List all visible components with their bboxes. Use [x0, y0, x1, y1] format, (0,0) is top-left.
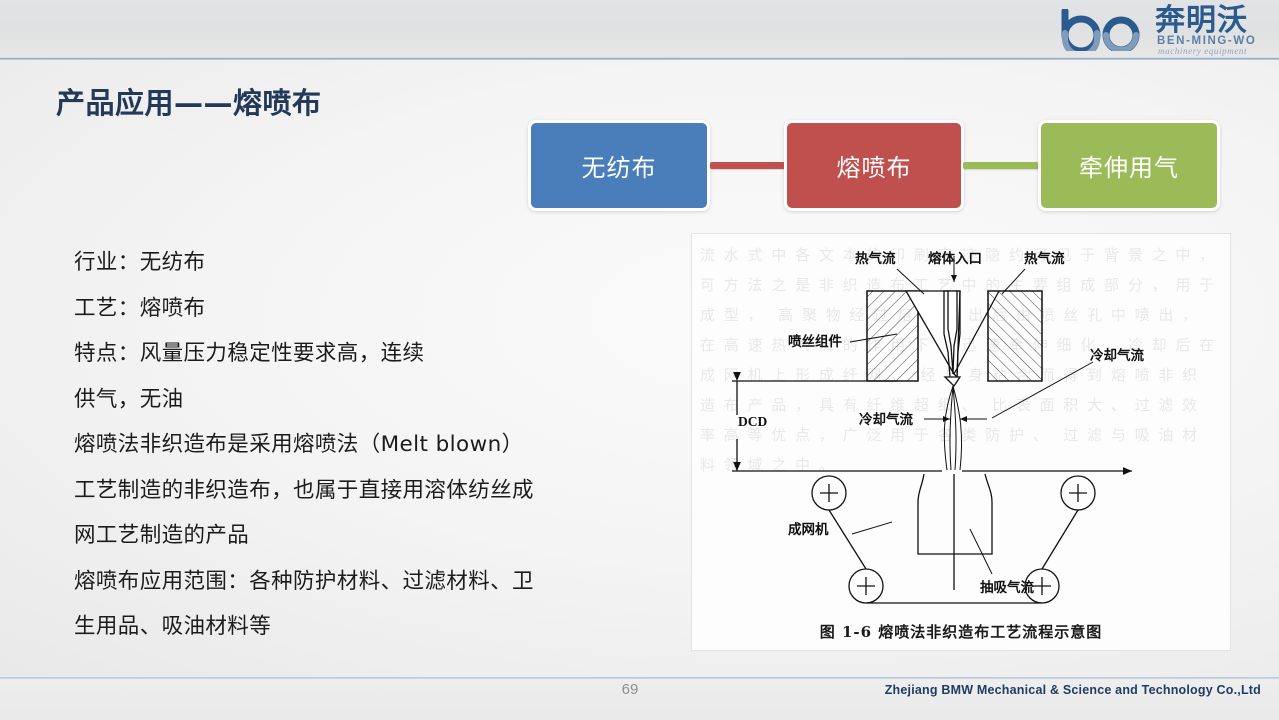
figure-label-hot-air-left: 热气流	[855, 250, 896, 267]
process-schematic-figure: 流 水 式 中 各 文 本 的 印 刷 字 迹 隐 约 可 见 于 背 景 之 …	[692, 234, 1230, 650]
flow-box-nonwoven[interactable]: 无纺布	[528, 120, 710, 211]
body-line: 工艺制造的非织造布，也属于直接用溶体纺丝成	[74, 468, 674, 514]
figure-label-cooling-air-right: 冷却气流	[1090, 347, 1144, 364]
body-line: 生用品、吸油材料等	[74, 604, 674, 650]
body-line: 工艺：熔喷布	[74, 286, 674, 332]
flow-box-label: 牵伸用气	[1079, 148, 1179, 183]
figure-label-suction-air: 抽吸气流	[980, 579, 1034, 596]
figure-label-spinneret: 喷丝组件	[788, 333, 842, 350]
process-flow-diagram: 无纺布 熔喷布 牵伸用气	[0, 0, 1279, 240]
figure-label-web-former: 成网机	[788, 521, 829, 538]
figure-label-cooling-air-center: 冷却气流	[859, 411, 913, 428]
body-text: 行业：无纺布 工艺：熔喷布 特点：风量压力稳定性要求高，连续 供气，无油 熔喷法…	[74, 240, 674, 650]
footer-company-name: Zhejiang BMW Mechanical & Science and Te…	[885, 683, 1261, 697]
flow-connector-1	[710, 162, 786, 169]
body-line: 行业：无纺布	[74, 240, 674, 286]
body-line: 熔喷布应用范围：各种防护材料、过滤材料、卫	[74, 559, 674, 605]
flow-box-drawing-air[interactable]: 牵伸用气	[1038, 120, 1220, 211]
flow-box-meltblown[interactable]: 熔喷布	[784, 120, 964, 211]
body-line: 网工艺制造的产品	[74, 513, 674, 559]
body-line: 供气，无油	[74, 377, 674, 423]
figure-label-hot-air-right: 热气流	[1024, 250, 1065, 267]
body-line: 熔喷法非织造布是采用熔喷法（Melt blown）	[74, 422, 674, 468]
page-number: 69	[600, 681, 660, 698]
flow-connector-2	[963, 162, 1040, 169]
figure-caption: 图 1-6 熔喷法非织造布工艺流程示意图	[692, 621, 1230, 642]
meltblown-schematic-drawing: 热气流 熔体入口 热气流 喷丝组件 冷却气流 冷却气流 成网机 抽吸气流 DCD	[692, 234, 1230, 650]
flow-box-label: 熔喷布	[837, 148, 912, 183]
figure-label-dcd: DCD	[738, 414, 767, 429]
flow-box-label: 无纺布	[582, 148, 657, 183]
body-line: 特点：风量压力稳定性要求高，连续	[74, 331, 674, 377]
figure-label-melt-inlet: 熔体入口	[928, 250, 982, 267]
slide: 奔明沃 BEN-MING-WO machinery equipment 产品应用…	[0, 0, 1279, 720]
